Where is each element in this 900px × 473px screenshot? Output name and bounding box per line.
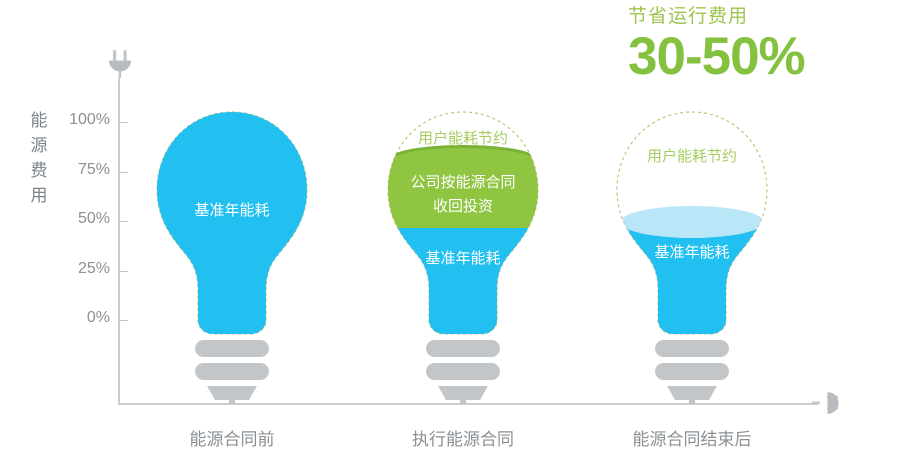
power-plug-icon bbox=[107, 50, 133, 78]
y-axis-tick-mark bbox=[118, 122, 128, 123]
y-axis-tick-label: 25% bbox=[52, 260, 110, 278]
segment-baseline bbox=[368, 228, 558, 348]
x-category-label-1: 能源合同前 bbox=[122, 425, 342, 450]
y-axis-title-char: 源 bbox=[28, 133, 50, 158]
y-axis-tick-mark bbox=[118, 221, 128, 222]
headline-block: 节省运行费用 30-50% bbox=[628, 4, 898, 84]
blue-liquid-surface bbox=[620, 206, 764, 238]
headline-value: 30-50% bbox=[628, 30, 898, 84]
green-liquid-surface-inner bbox=[391, 148, 535, 174]
bulb-before-contract: 基准年能耗 bbox=[137, 104, 327, 404]
y-axis-title-char: 用 bbox=[28, 183, 50, 208]
bulb-graphic bbox=[137, 104, 327, 404]
y-axis-tick-label: 100% bbox=[52, 111, 110, 129]
infographic-canvas: 节省运行费用 30-50% 能源费用 100%75%50%25%0% bbox=[0, 0, 900, 473]
bulb-after-contract: 用户能耗节约 基准年能耗 bbox=[597, 104, 787, 404]
segment-baseline bbox=[137, 112, 327, 342]
bulb-fill-group bbox=[137, 112, 327, 342]
x-category-label-3: 能源合同结束后 bbox=[582, 425, 802, 450]
bulb-graphic bbox=[597, 104, 787, 404]
bulb-base bbox=[195, 340, 269, 404]
y-axis-tick-mark bbox=[118, 172, 128, 173]
power-plug-icon bbox=[812, 390, 840, 418]
y-axis-tick-label: 75% bbox=[52, 161, 110, 179]
y-axis-title-char: 能 bbox=[28, 108, 50, 133]
y-axis-tick-mark bbox=[118, 271, 128, 272]
segment-baseline bbox=[597, 222, 787, 348]
bulb-base bbox=[426, 340, 500, 404]
y-axis-tick-mark bbox=[118, 320, 128, 321]
y-axis-tick-label: 50% bbox=[52, 210, 110, 228]
y-axis-tick-label: 0% bbox=[52, 309, 110, 327]
y-axis-title-char: 费 bbox=[28, 158, 50, 183]
x-category-label-2: 执行能源合同 bbox=[353, 425, 573, 450]
bulb-fill-group bbox=[368, 145, 558, 348]
bulb-during-contract: 用户能耗节约 公司按能源合同 收回投资 基准年能耗 bbox=[368, 104, 558, 404]
bulb-graphic bbox=[368, 104, 558, 404]
y-axis-title: 能源费用 bbox=[28, 108, 50, 208]
y-axis-line bbox=[118, 78, 120, 405]
bulb-fill-group bbox=[597, 206, 787, 348]
bulb-base bbox=[655, 340, 729, 404]
